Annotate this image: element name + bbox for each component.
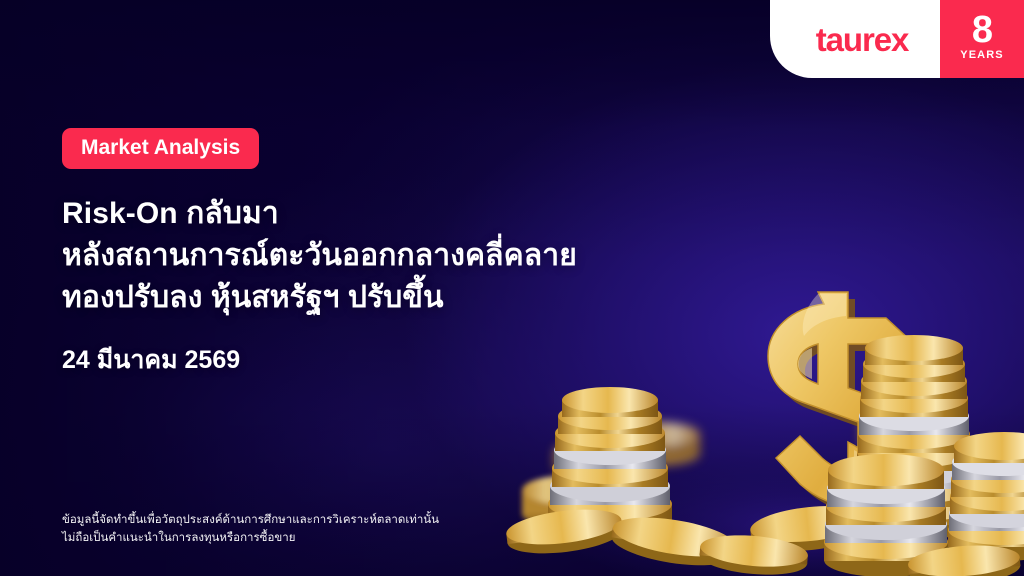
headline: Risk-On กลับมา หลังสถานการณ์ตะวันออกกลาง… [62, 193, 702, 319]
brand-logo-panel[interactable]: taurex 8 YEARS [770, 0, 1024, 78]
disclaimer-line-2: ไม่ถือเป็นคำแนะนำในการลงทุนหรือการซื้อขา… [62, 529, 439, 548]
content-block: Market Analysis Risk-On กลับมา หลังสถานก… [62, 128, 702, 375]
disclaimer-line-1: ข้อมูลนี้จัดทำขึ้นเพื่อวัตถุประสงค์ด้านก… [62, 511, 439, 530]
headline-line-1: Risk-On กลับมา [62, 193, 702, 235]
anniversary-number: 8 [972, 13, 992, 48]
headline-line-3: ทองปรับลง หุ้นสหรัฐฯ ปรับขึ้น [62, 277, 702, 319]
publish-date: 24 มีนาคม 2569 [62, 345, 702, 375]
disclaimer: ข้อมูลนี้จัดทำขึ้นเพื่อวัตถุประสงค์ด้านก… [62, 511, 439, 548]
headline-line-2: หลังสถานการณ์ตะวันออกกลางคลี่คลาย [62, 235, 702, 277]
marketing-banner: taurex 8 YEARS Market Analysis Risk-On ก… [0, 0, 1024, 576]
brand-wordmark: taurex [816, 23, 908, 56]
brand-wordmark-container: taurex [770, 0, 940, 78]
anniversary-badge: 8 YEARS [940, 0, 1024, 78]
category-badge: Market Analysis [62, 128, 259, 169]
anniversary-label: YEARS [960, 50, 1003, 61]
